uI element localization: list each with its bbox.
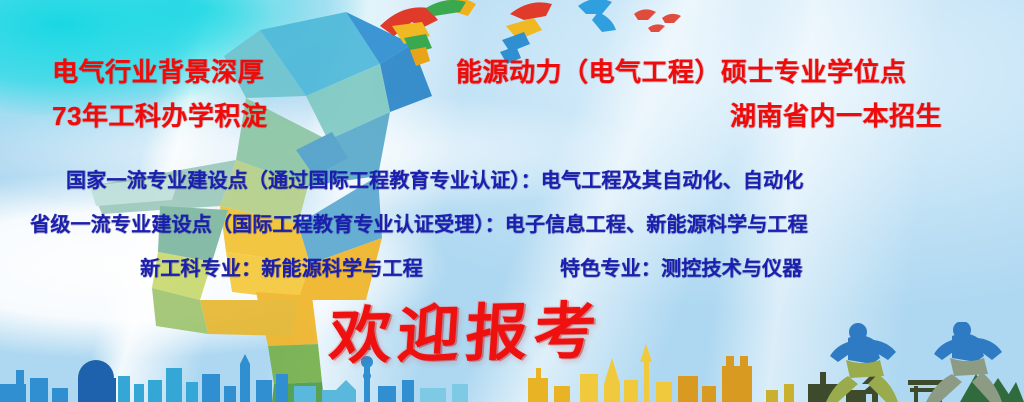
program-line-new-engineering: 新工科专业：新能源科学与工程 xyxy=(140,252,423,281)
program-line-national-first-class: 国家一流专业建设点（通过国际工程教育专业认证）：电气工程及其自动化、自动化 xyxy=(66,164,803,193)
headline-left-line-1: 电气行业背景深厚 xyxy=(52,52,264,89)
headline-right-line-1: 能源动力（电气工程）硕士专业学位点 xyxy=(456,52,907,89)
welcome-apply-cta: 欢迎报考 xyxy=(327,280,605,376)
program-line-provincial-first-class: 省级一流专业建设点（国际工程教育专业认证受理）：电子信息工程、新能源科学与工程 xyxy=(30,208,808,237)
recruitment-banner: 电气行业背景深厚 73年工科办学积淀 能源动力（电气工程）硕士专业学位点 湖南省… xyxy=(0,0,1024,402)
headline-left-line-2: 73年工科办学积淀 xyxy=(52,96,267,133)
sprinting-athletes-icon xyxy=(790,322,1024,402)
headline-right-line-2: 湖南省内一本招生 xyxy=(730,96,942,133)
program-line-featured-major: 特色专业：测控技术与仪器 xyxy=(560,252,802,281)
